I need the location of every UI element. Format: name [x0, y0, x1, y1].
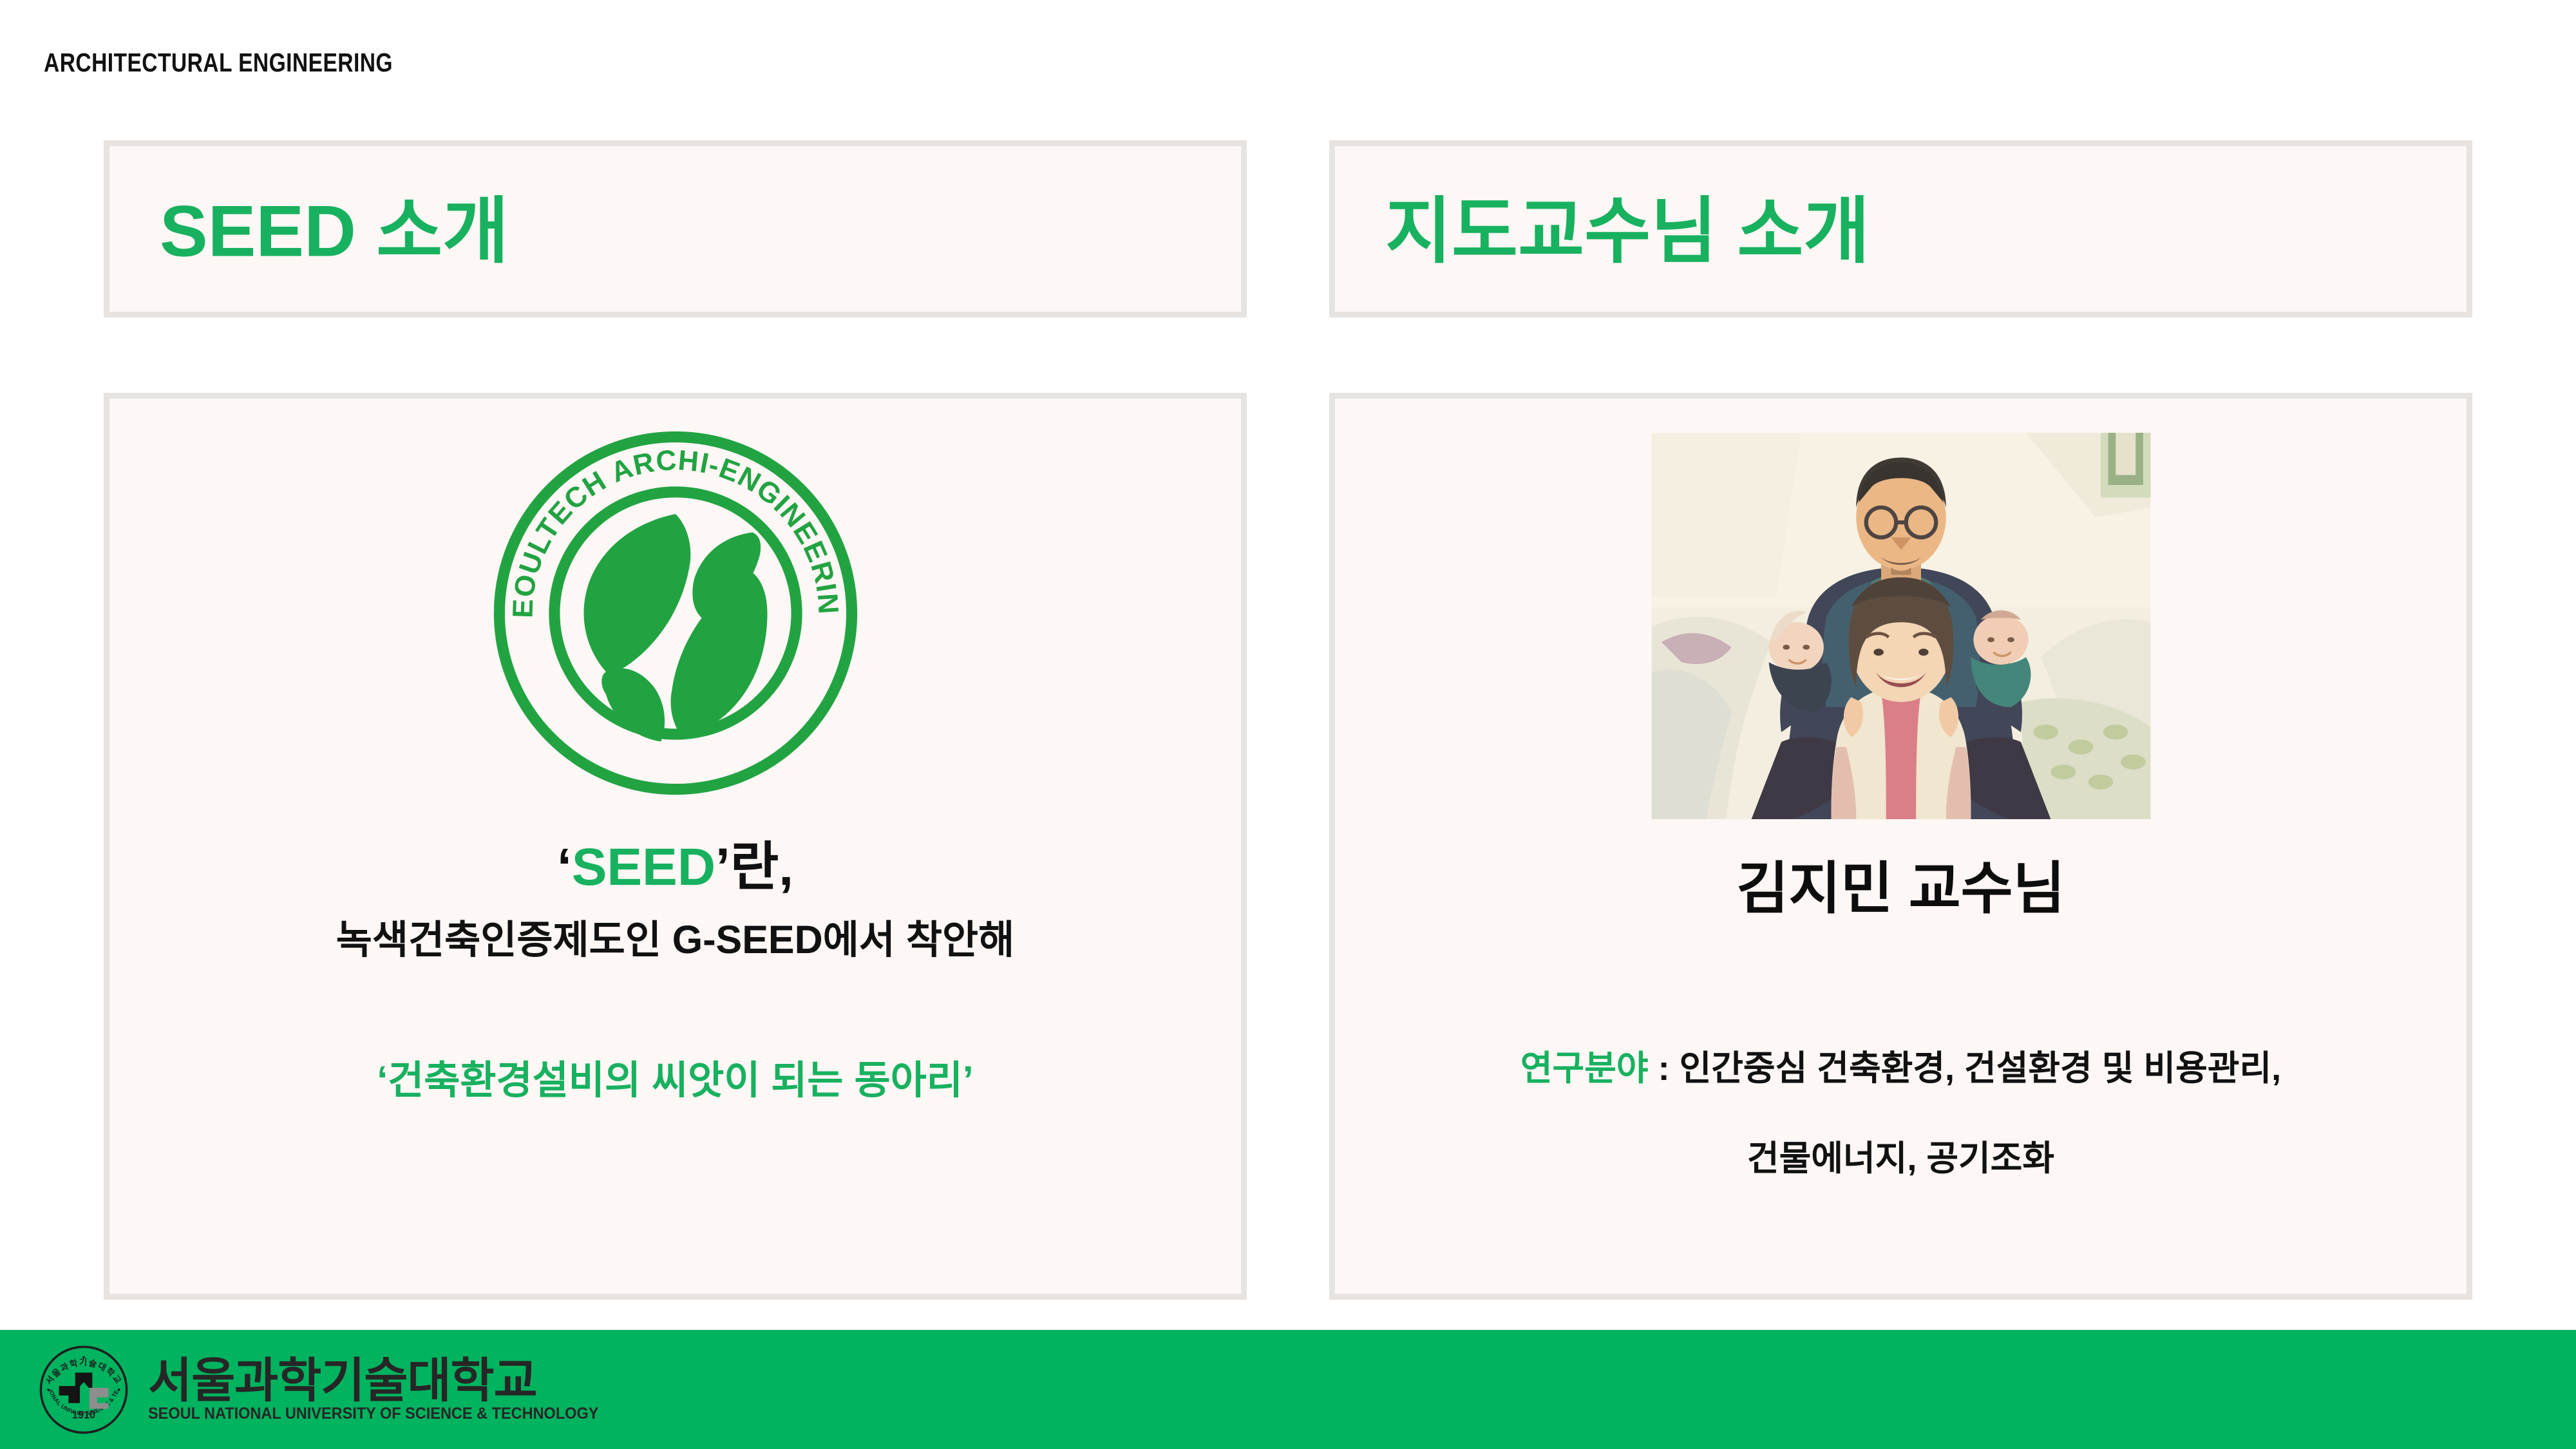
professor-family-photo [1651, 433, 2150, 819]
seed-word-highlight: SEED [572, 838, 715, 896]
professor-panel-title: 지도교수님 소개 [1385, 173, 1870, 277]
snut-university-emblem-icon: 서울과학기술대학교 SEOUL NATIONAL UNIV. OF SCIENC… [36, 1342, 131, 1437]
research-field-line-1: 연구분야 : 인간중심 건축환경, 건설환경 및 비용관리, [1335, 1039, 2467, 1090]
research-field-value-1: : 인간중심 건축환경, 건설환경 및 비용관리, [1649, 1049, 2282, 1088]
slide-footer: 서울과학기술대학교 SEOUL NATIONAL UNIV. OF SCIENC… [0, 1330, 2576, 1449]
slide-kicker: ARCHITECTURAL ENGINEERING [44, 48, 393, 78]
university-name-english: SEOUL NATIONAL UNIVERSITY OF SCIENCE & T… [148, 1406, 598, 1422]
research-field-label: 연구분야 [1520, 1049, 1649, 1088]
seed-circular-logo-icon: SEOULTECH ARCHI-ENGINEERING S E E D [492, 430, 859, 797]
research-field-line-2: 건물에너지, 공기조화 [1335, 1130, 2467, 1180]
seed-origin-text: 녹색건축인증제도인 G-SEED에서 착안해 [109, 907, 1241, 965]
professor-title-panel: 지도교수님 소개 [1329, 140, 2472, 317]
seed-title-panel: SEED 소개 [104, 140, 1247, 317]
seed-quote-open: ‘ [557, 838, 572, 896]
professor-name: 김지민 교수님 [1335, 843, 2467, 925]
seed-quote-close: ’란, [715, 838, 793, 896]
emblem-year: 1910 [72, 1409, 95, 1421]
seed-panel-title: SEED 소개 [160, 173, 509, 277]
seed-definition-heading: ‘SEED’란, [109, 824, 1241, 900]
seed-slogan-text: ‘건축환경설비의 씨앗이 되는 동아리’ [109, 1048, 1241, 1105]
professor-content-panel: 김지민 교수님 연구분야 : 인간중심 건축환경, 건설환경 및 비용관리, 건… [1329, 393, 2472, 1300]
seed-content-panel: SEOULTECH ARCHI-ENGINEERING S E E D ‘SEE… [104, 393, 1247, 1300]
university-name-korean: 서울과학기술대학교 [148, 1357, 627, 1405]
